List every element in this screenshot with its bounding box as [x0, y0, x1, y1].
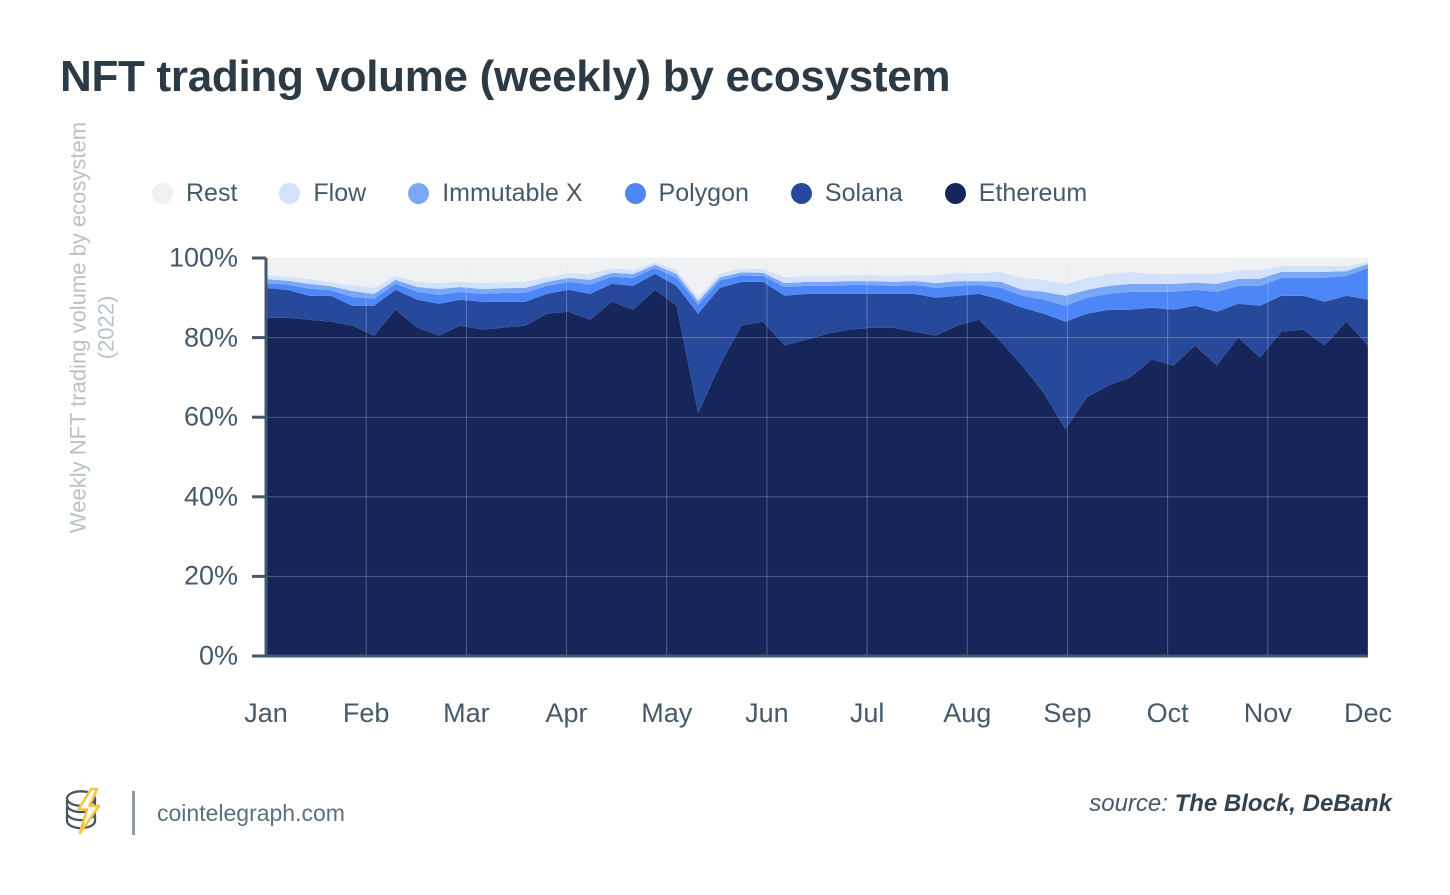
y-axis-tick-label: 80% — [184, 322, 238, 353]
x-axis-tick-label: Sep — [1043, 698, 1091, 729]
chart-page: NFT trading volume (weekly) by ecosystem… — [0, 0, 1450, 895]
x-axis-tick-labels: JanFebMarAprMayJunJulAugSepOctNovDec — [0, 698, 1450, 744]
footer-brand: cointelegraph.com — [60, 782, 345, 844]
x-axis-tick-label: Jun — [745, 698, 789, 729]
footer-source-names: The Block, DeBank — [1175, 790, 1392, 817]
x-axis-tick-label: Jan — [244, 698, 288, 729]
footer-divider — [132, 791, 135, 835]
y-axis-tick-label: 100% — [169, 243, 238, 274]
footer-site-label: cointelegraph.com — [157, 800, 345, 827]
footer-source: source: The Block, DeBank — [1089, 790, 1392, 818]
y-axis-tick-label: 0% — [199, 641, 238, 672]
y-axis-tick-label: 60% — [184, 402, 238, 433]
y-axis-tick-label: 40% — [184, 481, 238, 512]
x-axis-tick-label: Jul — [850, 698, 885, 729]
x-axis-tick-label: Nov — [1244, 698, 1292, 729]
x-axis-tick-label: Mar — [443, 698, 490, 729]
footer-source-prefix: source: — [1089, 790, 1168, 817]
x-axis-tick-label: Apr — [546, 698, 588, 729]
x-axis-tick-label: Aug — [943, 698, 991, 729]
x-axis-tick-label: May — [641, 698, 692, 729]
chart-container: Weekly NFT trading volume by ecosystem (… — [0, 0, 1450, 895]
x-axis-tick-label: Oct — [1147, 698, 1189, 729]
x-axis-tick-label: Feb — [343, 698, 390, 729]
cointelegraph-coin-bolt-logo-icon — [60, 785, 110, 842]
y-axis-tick-label: 20% — [184, 561, 238, 592]
x-axis-tick-label: Dec — [1344, 698, 1392, 729]
footer: cointelegraph.com source: The Block, DeB… — [0, 782, 1450, 852]
y-axis-tick-labels: 0%20%40%60%80%100% — [60, 0, 238, 895]
